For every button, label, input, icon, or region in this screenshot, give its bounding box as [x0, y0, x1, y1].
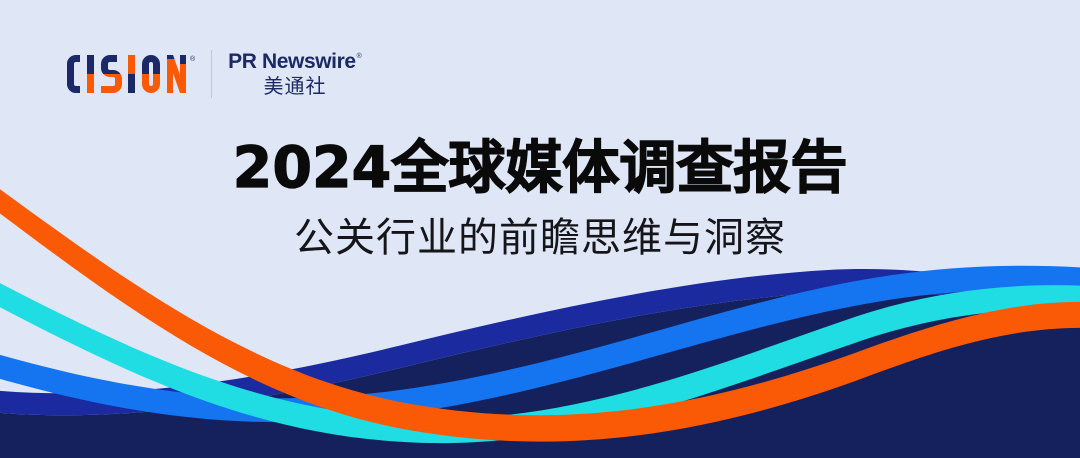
- brand-lockup: ® PR Newswire ® 美通社: [64, 46, 362, 102]
- pr-newswire-logo: PR Newswire ® 美通社: [228, 50, 362, 97]
- cision-logo: ®: [64, 55, 195, 93]
- cision-trademark-icon: ®: [190, 56, 195, 63]
- report-title: 2024全球媒体调查报告: [0, 138, 1080, 200]
- pr-newswire-trademark-icon: ®: [357, 53, 362, 60]
- pr-newswire-wordmark: PR Newswire: [228, 51, 356, 73]
- pr-newswire-wordmark-row: PR Newswire ®: [228, 51, 362, 73]
- report-subtitle: 公关行业的前瞻思维与洞察: [0, 216, 1080, 260]
- report-cover: ® PR Newswire ® 美通社 2024全球媒体调查报告 公关行业的前瞻…: [0, 0, 1080, 458]
- pr-newswire-chinese-name: 美通社: [264, 75, 327, 98]
- cision-wordmark-icon: [64, 55, 188, 93]
- title-block: 2024全球媒体调查报告 公关行业的前瞻思维与洞察: [0, 138, 1080, 260]
- logo-divider: [211, 50, 212, 98]
